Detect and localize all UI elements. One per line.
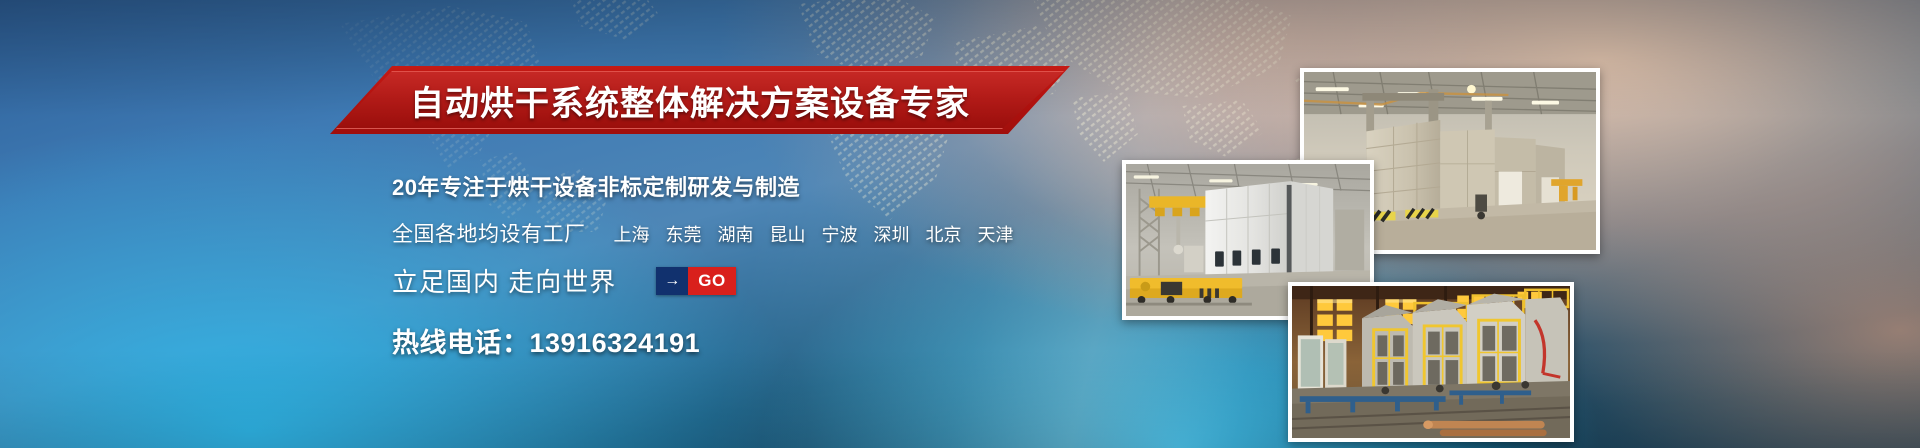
tagline-text: 20年专注于烘干设备非标定制研发与制造 [392,170,1014,202]
slogan-line: 立足国内 走向世界 → GO [392,262,1014,299]
city-item: 深圳 [874,221,910,247]
city-item: 东莞 [666,221,702,247]
city-list: 上海 东莞 湖南 昆山 宁波 深圳 北京 天津 [614,221,1014,247]
arrow-right-icon: → [656,267,688,295]
city-item: 上海 [614,221,650,247]
photo-yellow-cage-ovens [1288,282,1574,442]
city-item: 湖南 [718,221,754,247]
go-button[interactable]: → GO [656,267,735,295]
copy-block: 20年专注于烘干设备非标定制研发与制造 全国各地均设有工厂 上海 东莞 湖南 昆… [392,170,1014,360]
go-button-label: GO [688,267,735,295]
city-item: 昆山 [770,221,806,247]
city-item: 天津 [978,221,1014,247]
factories-line: 全国各地均设有工厂 上海 东莞 湖南 昆山 宁波 深圳 北京 天津 [392,218,1014,248]
factories-label: 全国各地均设有工厂 [392,218,586,248]
hotline-text: 热线电话：13916324191 [392,321,1014,360]
city-item: 北京 [926,221,962,247]
slogan-text: 立足国内 走向世界 [392,262,616,299]
page-title: 自动烘干系统整体解决方案设备专家 [330,66,1070,134]
title-plate: 自动烘干系统整体解决方案设备专家 [330,66,1070,134]
promo-banner: 自动烘干系统整体解决方案设备专家 20年专注于烘干设备非标定制研发与制造 全国各… [0,0,1920,448]
city-item: 宁波 [822,221,858,247]
